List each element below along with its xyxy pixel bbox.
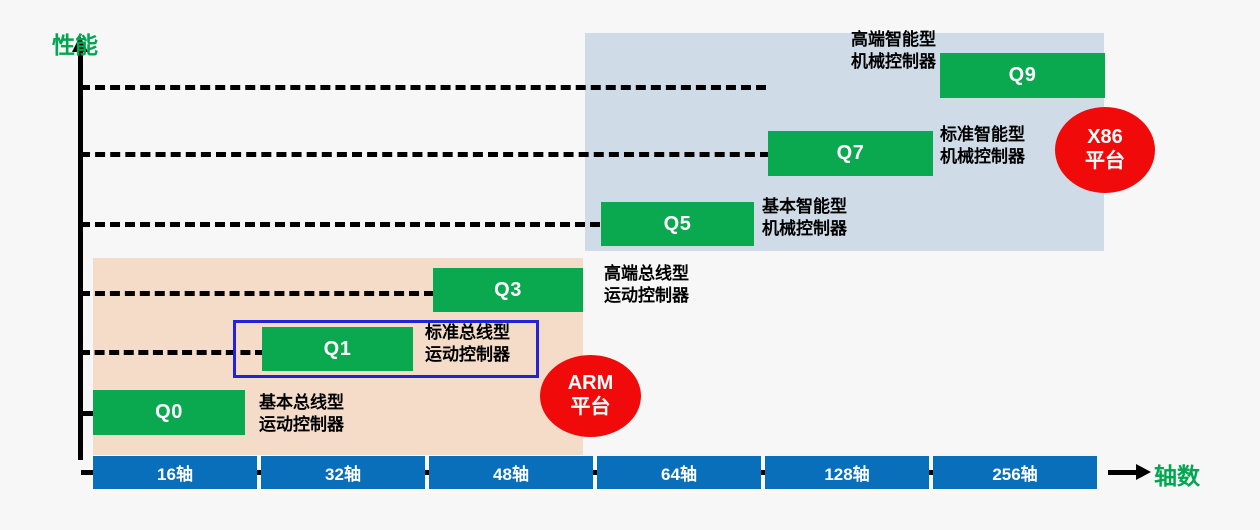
x-axis-arrow-line <box>1108 470 1138 475</box>
axis-segment-16[interactable]: 16轴 <box>93 456 257 489</box>
label-q7: 标准智能型 机械控制器 <box>940 124 1025 169</box>
y-axis-line <box>78 48 83 460</box>
gridline-level-5 <box>80 152 770 157</box>
bar-q1[interactable]: Q1 <box>262 327 413 371</box>
x-axis-arrow-icon <box>1136 464 1151 480</box>
label-q7-line2: 机械控制器 <box>940 146 1025 168</box>
gridline-level-3 <box>80 291 434 296</box>
label-q3-line1: 高端总线型 <box>604 263 689 285</box>
y-axis-label: 性能 <box>52 26 98 60</box>
badge-arm-line2: 平台 <box>571 396 611 420</box>
axis-segment-48[interactable]: 48轴 <box>429 456 593 489</box>
label-q1-line1: 标准总线型 <box>425 322 510 344</box>
label-q0-line2: 运动控制器 <box>259 414 344 436</box>
label-q1: 标准总线型 运动控制器 <box>425 322 510 367</box>
axis-connector-0 <box>81 470 93 475</box>
label-q0: 基本总线型 运动控制器 <box>259 392 344 437</box>
label-q1-line2: 运动控制器 <box>425 344 510 366</box>
bar-q3[interactable]: Q3 <box>433 268 583 312</box>
axis-segment-128[interactable]: 128轴 <box>765 456 929 489</box>
badge-arm-line1: ARM <box>568 372 614 396</box>
axis-segment-32[interactable]: 32轴 <box>261 456 425 489</box>
label-q5-line2: 机械控制器 <box>762 218 847 240</box>
badge-x86-line1: X86 <box>1087 126 1123 150</box>
bar-q5[interactable]: Q5 <box>601 202 754 246</box>
x-axis-label: 轴数 <box>1154 457 1200 491</box>
label-q5-line1: 基本智能型 <box>762 196 847 218</box>
label-q9-line2: 机械控制器 <box>766 51 936 73</box>
bar-q9[interactable]: Q9 <box>940 53 1105 98</box>
label-q0-line1: 基本总线型 <box>259 392 344 414</box>
badge-x86-line2: 平台 <box>1085 150 1125 174</box>
bar-q7[interactable]: Q7 <box>768 131 933 176</box>
gridline-level-6 <box>80 85 766 90</box>
badge-x86-platform[interactable]: X86 平台 <box>1055 107 1155 193</box>
performance-axis-positioning-chart: 性能 Q9 高端智能型 机械控制器 Q7 标准智能型 机械控制器 Q5 基本智能… <box>0 0 1260 530</box>
axis-segment-256[interactable]: 256轴 <box>933 456 1097 489</box>
badge-arm-platform[interactable]: ARM 平台 <box>540 355 641 437</box>
label-q5: 基本智能型 机械控制器 <box>762 196 847 241</box>
bar-q0[interactable]: Q0 <box>93 390 245 435</box>
x-axis-segment-bar: 16轴 32轴 48轴 64轴 128轴 256轴 <box>93 456 1097 489</box>
label-q3-line2: 运动控制器 <box>604 285 689 307</box>
label-q9: 高端智能型 机械控制器 <box>766 29 936 74</box>
gridline-level-4 <box>80 222 600 227</box>
label-q3: 高端总线型 运动控制器 <box>604 263 689 308</box>
axis-segment-64[interactable]: 64轴 <box>597 456 761 489</box>
label-q7-line1: 标准智能型 <box>940 124 1025 146</box>
label-q9-line1: 高端智能型 <box>766 29 936 51</box>
